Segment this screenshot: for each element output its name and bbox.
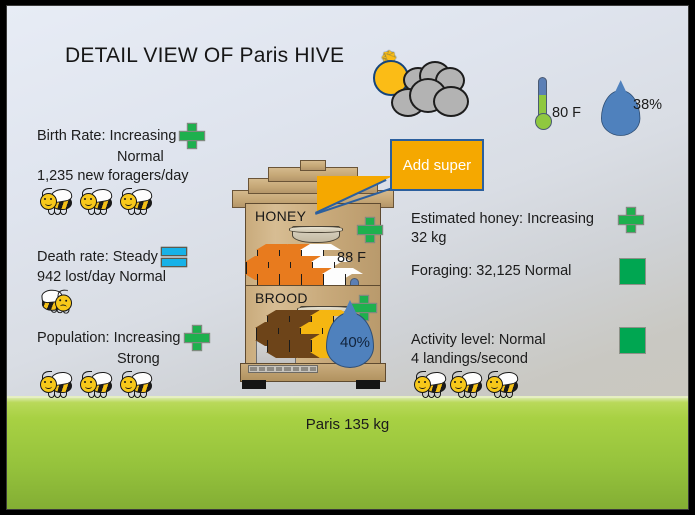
- population-bee-group: [37, 372, 209, 398]
- bee-icon: [485, 372, 519, 398]
- bee-icon: [79, 189, 113, 215]
- birth-rate-bee-group: [37, 189, 204, 215]
- bee-icon: [119, 189, 153, 215]
- bee-icon: [39, 372, 73, 398]
- activity-level-bee-group: [411, 372, 661, 398]
- foraging-line1: Foraging: 32,125 Normal: [411, 263, 571, 279]
- hive-entrance: [248, 365, 318, 373]
- hive-foot: [242, 380, 266, 389]
- add-super-callout[interactable]: Add super: [390, 139, 484, 191]
- cloud-icon-front: [391, 78, 465, 114]
- stat-foraging: Foraging: 32,125 Normal: [411, 262, 661, 281]
- feeder-icon: [292, 226, 340, 243]
- outside-humidity-value: 38%: [633, 97, 662, 113]
- stat-population: Population: Increasing Strong: [37, 326, 209, 398]
- death-rate-bee-group: [37, 290, 186, 316]
- weather-icon-group: [351, 44, 479, 122]
- stat-activity-level: Activity level: Normal 4 landings/second: [411, 331, 661, 398]
- bee-icon: [79, 372, 113, 398]
- slide-frame: Paris 135 kg DETAIL VIEW OF Paris HIVE: [7, 6, 688, 509]
- blue-equals-icon: [162, 246, 186, 268]
- activity-level-line1: Activity level: Normal: [411, 332, 546, 348]
- green-plus-icon: [619, 208, 643, 232]
- population-line2: Strong: [37, 350, 209, 369]
- estimated-honey-line1: Estimated honey: Increasing: [411, 211, 594, 227]
- hive-foot: [356, 380, 380, 389]
- outside-thermometer-icon: [538, 77, 547, 119]
- bee-icon: [449, 372, 483, 398]
- bee-icon: [413, 372, 447, 398]
- birth-rate-line3: 1,235 new foragers/day: [37, 167, 204, 186]
- hive-honey-super: HONEY: [245, 203, 381, 287]
- outside-temperature-value: 80 F: [552, 105, 581, 121]
- honey-super-label: HONEY: [255, 208, 306, 224]
- green-plus-icon: [180, 124, 204, 148]
- stat-birth-rate: Birth Rate: Increasing Normal 1,235 new …: [37, 124, 204, 215]
- birth-rate-line2: Normal: [37, 148, 204, 167]
- bee-icon: [119, 372, 153, 398]
- hive-humidity-value: 40%: [330, 334, 380, 351]
- dead-bee-icon: [38, 289, 74, 317]
- death-rate-line1: Death rate: Steady: [37, 249, 158, 265]
- stat-estimated-honey: Estimated honey: Increasing 32 kg: [411, 210, 661, 248]
- page-title: DETAIL VIEW OF Paris HIVE: [65, 44, 344, 68]
- stat-death-rate: Death rate: Steady 942 lost/day Normal: [37, 246, 186, 316]
- population-line1: Population: Increasing: [37, 330, 181, 346]
- green-square-icon: [619, 258, 646, 285]
- birth-rate-line1: Birth Rate: Increasing: [37, 128, 176, 144]
- green-plus-icon: [358, 218, 386, 246]
- hive-temperature-value: 88 F: [337, 250, 366, 266]
- green-square-icon: [619, 327, 646, 354]
- brood-box-label: BROOD: [255, 290, 308, 306]
- ground-area: Paris 135 kg: [7, 396, 688, 509]
- bee-icon: [39, 189, 73, 215]
- death-rate-line2: 942 lost/day Normal: [37, 268, 186, 287]
- green-plus-icon: [185, 326, 209, 350]
- hive-weight-label: Paris 135 kg: [7, 416, 688, 433]
- screenshot-root: Paris 135 kg DETAIL VIEW OF Paris HIVE: [0, 0, 695, 515]
